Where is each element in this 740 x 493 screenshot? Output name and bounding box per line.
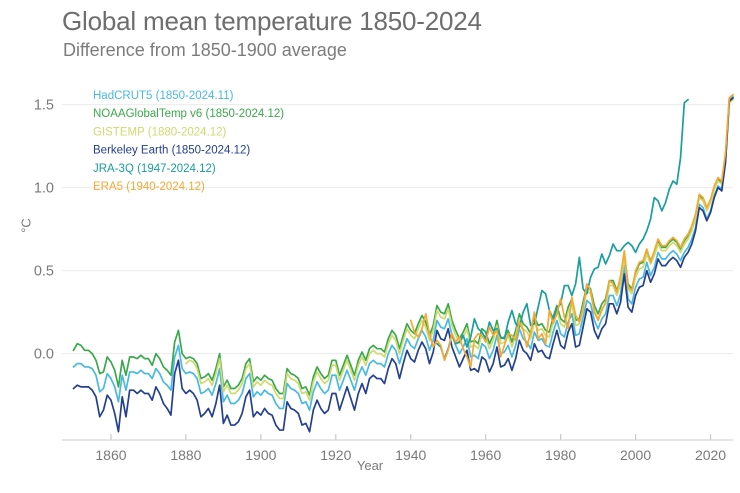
x-tick-label: 2020: [695, 447, 726, 463]
legend-item-era5[interactable]: ERA5 (1940-2024.12): [93, 181, 205, 193]
legend-item-berkeley-earth[interactable]: Berkeley Earth (1850-2024.12): [93, 145, 250, 157]
climate-chart: Global mean temperature 1850-2024 Differ…: [0, 0, 740, 493]
x-tick-label: 1920: [320, 447, 351, 463]
x-tick-label: 1880: [170, 447, 201, 463]
y-tick-label: 1.0: [34, 181, 54, 197]
legend-item-jra-3q[interactable]: JRA-3Q (1947-2024.12): [93, 163, 216, 175]
legend-item-gistemp[interactable]: GISTEMP (1880-2024.12): [93, 126, 227, 138]
x-tick-label: 1900: [245, 447, 276, 463]
x-tick-label: 2000: [620, 447, 651, 463]
plot-area: 0.00.51.01.51860188019001920194019601980…: [0, 0, 740, 493]
x-tick-label: 1940: [395, 447, 426, 463]
legend-item-hadcrut5[interactable]: HadCRUT5 (1850-2024.11): [93, 90, 234, 102]
x-tick-label: 1860: [95, 447, 126, 463]
x-tick-label: 1980: [545, 447, 576, 463]
y-tick-label: 1.5: [34, 98, 54, 114]
y-tick-label: 0.0: [34, 347, 54, 363]
x-tick-label: 1960: [470, 447, 501, 463]
y-tick-label: 0.5: [34, 264, 54, 280]
series-line-gistemp: [186, 100, 733, 401]
legend-item-noaaglobaltemp-v6[interactable]: NOAAGlobalTemp v6 (1850-2024.12): [93, 108, 284, 120]
